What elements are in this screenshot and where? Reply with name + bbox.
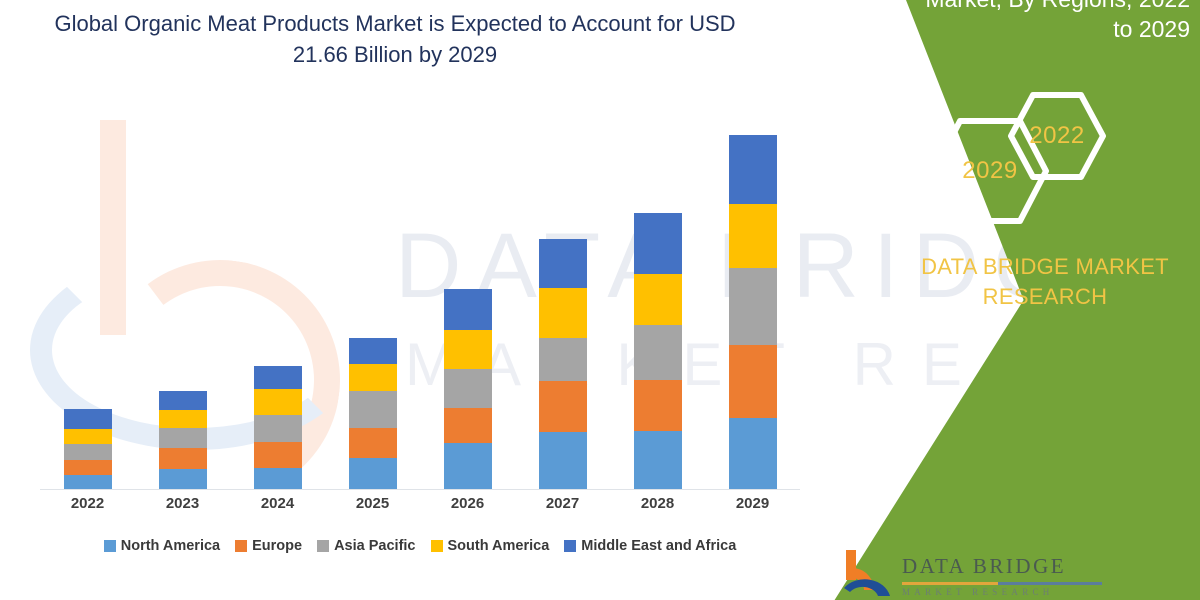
stacked-bar-2026[interactable] — [444, 289, 492, 489]
hexagon-2022: 2022 — [1007, 91, 1107, 181]
hexagon-group: 2029 2022 — [930, 95, 1120, 225]
bar-slot — [325, 115, 420, 489]
bar-slot — [515, 115, 610, 489]
legend-label: North America — [121, 538, 220, 554]
legend-item[interactable]: Middle East and Africa — [564, 538, 736, 554]
bar-segment[interactable] — [159, 428, 207, 448]
bar-segment[interactable] — [349, 428, 397, 459]
bar-segment[interactable] — [64, 429, 112, 444]
bar-segment[interactable] — [634, 431, 682, 489]
bar-segment[interactable] — [254, 468, 302, 489]
bar-segment[interactable] — [64, 475, 112, 489]
bar-segment[interactable] — [729, 135, 777, 204]
stacked-bar-2027[interactable] — [539, 239, 587, 489]
legend-item[interactable]: Europe — [235, 538, 302, 554]
hexagon-2022-label: 2022 — [1029, 122, 1084, 150]
legend-item[interactable]: Asia Pacific — [317, 538, 415, 554]
bar-segment[interactable] — [159, 469, 207, 489]
x-tick-2028: 2028 — [610, 495, 705, 512]
bar-segment[interactable] — [539, 288, 587, 339]
legend-swatch-icon — [431, 540, 443, 552]
legend-swatch-icon — [104, 540, 116, 552]
stacked-bar-2029[interactable] — [729, 135, 777, 489]
bar-segment[interactable] — [634, 325, 682, 380]
bar-segment[interactable] — [349, 364, 397, 391]
bar-slot — [135, 115, 230, 489]
bridge-logo-icon — [840, 548, 894, 598]
hexagon-2029-label: 2029 — [962, 157, 1017, 185]
legend-label: Europe — [252, 538, 302, 554]
bar-segment[interactable] — [444, 369, 492, 408]
bar-slot — [40, 115, 135, 489]
legend-label: South America — [448, 538, 550, 554]
bar-segment[interactable] — [254, 366, 302, 389]
infographic-root: DATA BRIDGE MARKET RESEARCH Global Organ… — [0, 0, 1200, 600]
bar-segment[interactable] — [64, 460, 112, 475]
footer-logo: DATA BRIDGE MARKET RESEARCH — [840, 542, 1180, 598]
bar-slot — [610, 115, 705, 489]
bar-segment[interactable] — [729, 268, 777, 344]
bar-segment[interactable] — [64, 444, 112, 459]
legend-item[interactable]: South America — [431, 538, 550, 554]
bar-segment[interactable] — [254, 442, 302, 467]
legend-swatch-icon — [564, 540, 576, 552]
x-tick-2022: 2022 — [40, 495, 135, 512]
bar-segment[interactable] — [634, 213, 682, 274]
stacked-bar-2025[interactable] — [349, 338, 397, 489]
x-tick-2025: 2025 — [325, 495, 420, 512]
bar-segment[interactable] — [349, 338, 397, 363]
bar-segment[interactable] — [444, 330, 492, 369]
x-tick-2024: 2024 — [230, 495, 325, 512]
bar-segment[interactable] — [729, 345, 777, 418]
bar-slot — [420, 115, 515, 489]
stacked-bar-2023[interactable] — [159, 391, 207, 489]
bar-segment[interactable] — [349, 391, 397, 428]
bar-segment[interactable] — [729, 204, 777, 268]
chart-legend: North AmericaEuropeAsia PacificSouth Ame… — [40, 538, 800, 554]
x-tick-2029: 2029 — [705, 495, 800, 512]
bar-segment[interactable] — [444, 289, 492, 331]
x-tick-2027: 2027 — [515, 495, 610, 512]
legend-label: Asia Pacific — [334, 538, 415, 554]
legend-swatch-icon — [235, 540, 247, 552]
bar-segment[interactable] — [444, 408, 492, 444]
bar-segment[interactable] — [159, 391, 207, 409]
bar-segment[interactable] — [539, 381, 587, 432]
bar-segment[interactable] — [159, 410, 207, 428]
stacked-bar-2028[interactable] — [634, 213, 682, 489]
footer-logo-name: DATA BRIDGE — [902, 554, 1066, 579]
bar-segment[interactable] — [254, 415, 302, 442]
bar-slot — [705, 115, 800, 489]
stacked-bar-2022[interactable] — [64, 409, 112, 489]
x-axis-line — [40, 489, 800, 490]
x-tick-2023: 2023 — [135, 495, 230, 512]
x-axis-tick-labels: 20222023202420252026202720282029 — [40, 495, 800, 512]
chart-plot-area — [40, 115, 800, 490]
bar-slot — [230, 115, 325, 489]
bar-segment[interactable] — [444, 443, 492, 489]
stacked-bar-2024[interactable] — [254, 366, 302, 489]
chart-bars — [40, 115, 800, 489]
bar-segment[interactable] — [254, 389, 302, 414]
brand-name: DATA BRIDGE MARKET RESEARCH — [895, 252, 1195, 312]
page-title: Global Organic Meat Products Market is E… — [50, 8, 740, 70]
bar-segment[interactable] — [539, 338, 587, 381]
stacked-bar-chart: 20222023202420252026202720282029 — [40, 110, 800, 490]
panel-title: Market, By Regions, 2022 to 2029 — [925, 0, 1190, 44]
bar-segment[interactable] — [64, 409, 112, 429]
legend-swatch-icon — [317, 540, 329, 552]
bar-segment[interactable] — [634, 274, 682, 325]
bar-segment[interactable] — [539, 432, 587, 489]
footer-logo-tagline: MARKET RESEARCH — [902, 587, 1054, 597]
bar-segment[interactable] — [349, 458, 397, 489]
legend-label: Middle East and Africa — [581, 538, 736, 554]
bar-segment[interactable] — [539, 239, 587, 288]
footer-logo-rule — [902, 582, 1102, 585]
x-tick-2026: 2026 — [420, 495, 515, 512]
legend-item[interactable]: North America — [104, 538, 220, 554]
bar-segment[interactable] — [729, 418, 777, 489]
bar-segment[interactable] — [634, 380, 682, 431]
bar-segment[interactable] — [159, 448, 207, 468]
